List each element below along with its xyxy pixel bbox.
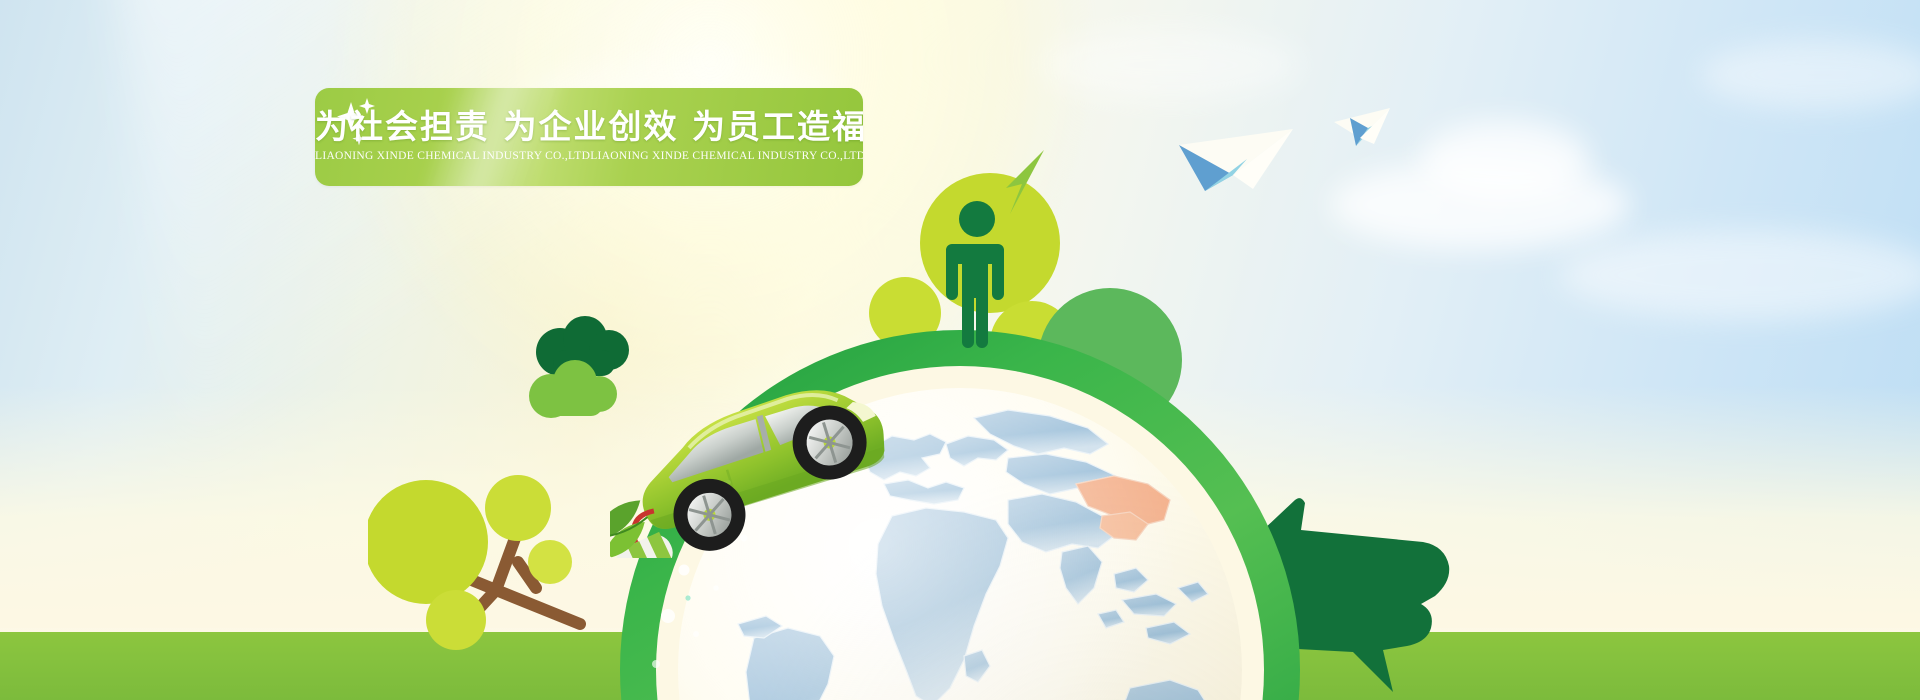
paper-plane-icon <box>1330 98 1420 158</box>
paper-plane-icon <box>1175 105 1335 195</box>
tree-foliage <box>528 540 572 584</box>
banner-title: 为社会担责 为企业创效 为员工造福 <box>315 100 863 148</box>
tree-left-lime <box>368 412 608 700</box>
cloud-icon <box>1420 120 1590 200</box>
tree-foliage <box>368 480 488 604</box>
title-banner: 为社会担责 为企业创效 为员工造福 LIAONING XINDE CHEMICA… <box>315 88 863 186</box>
cloud-icon <box>1560 230 1920 320</box>
tree-foliage <box>426 590 486 650</box>
banner-scene: 为社会担责 为企业创效 为员工造福 LIAONING XINDE CHEMICA… <box>0 0 1920 700</box>
person-icon <box>944 200 1010 350</box>
electric-car-icon <box>610 368 910 558</box>
banner-subtitle: LIAONING XINDE CHEMICAL INDUSTRY CO.,LTD… <box>315 150 863 162</box>
tree-foliage <box>485 475 551 541</box>
cloud-icon <box>1040 30 1300 100</box>
leaf-accent-icon <box>1000 148 1048 222</box>
